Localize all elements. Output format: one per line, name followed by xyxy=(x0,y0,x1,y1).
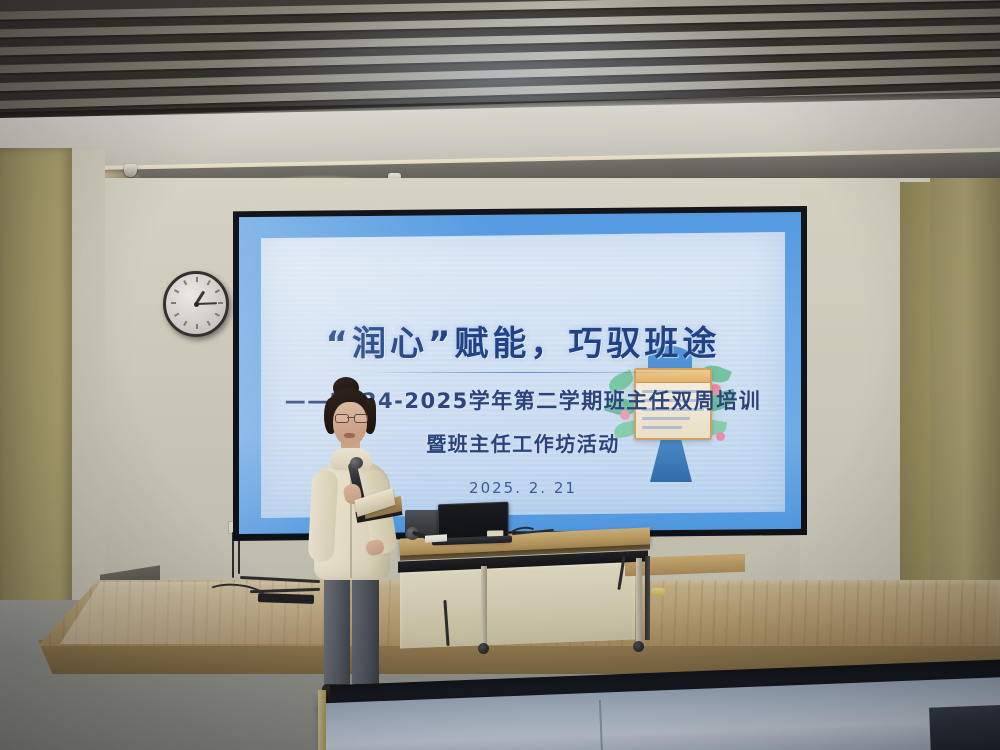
clock-center-pin xyxy=(194,302,199,307)
right-pilaster xyxy=(930,178,1000,648)
left-pilaster xyxy=(0,148,72,648)
right-pilaster-face xyxy=(900,182,932,644)
clock-minute-hand xyxy=(196,302,217,305)
right-wall xyxy=(800,178,905,648)
photo-scene: “润心”赋能，巧驭班途 ——2024-2025学年第二学期班主任双周培训 暨班主… xyxy=(0,0,1000,750)
presenter-leg-left xyxy=(324,574,350,690)
presenter-face xyxy=(333,402,367,446)
podium-panel xyxy=(400,561,635,648)
slide-title: “润心”赋能，巧驭班途 xyxy=(261,316,785,365)
presenter-mouth xyxy=(344,433,355,438)
eyeglasses-icon xyxy=(335,414,366,421)
presenter xyxy=(300,388,410,724)
ceiling-speaker xyxy=(124,164,137,177)
slide-divider-rule xyxy=(357,372,687,373)
floor-connector xyxy=(651,588,665,596)
wall-clock xyxy=(163,271,229,337)
presenter-leg-right xyxy=(352,574,379,690)
desk-caster xyxy=(633,641,644,652)
desk-leg xyxy=(645,556,650,640)
desk-leg xyxy=(636,558,642,646)
seat-side-panel xyxy=(929,704,1000,750)
presenter-arm-left xyxy=(308,469,339,562)
desk-caster xyxy=(478,643,489,654)
seat-support-pole xyxy=(318,690,326,750)
desk-leg xyxy=(481,566,487,646)
